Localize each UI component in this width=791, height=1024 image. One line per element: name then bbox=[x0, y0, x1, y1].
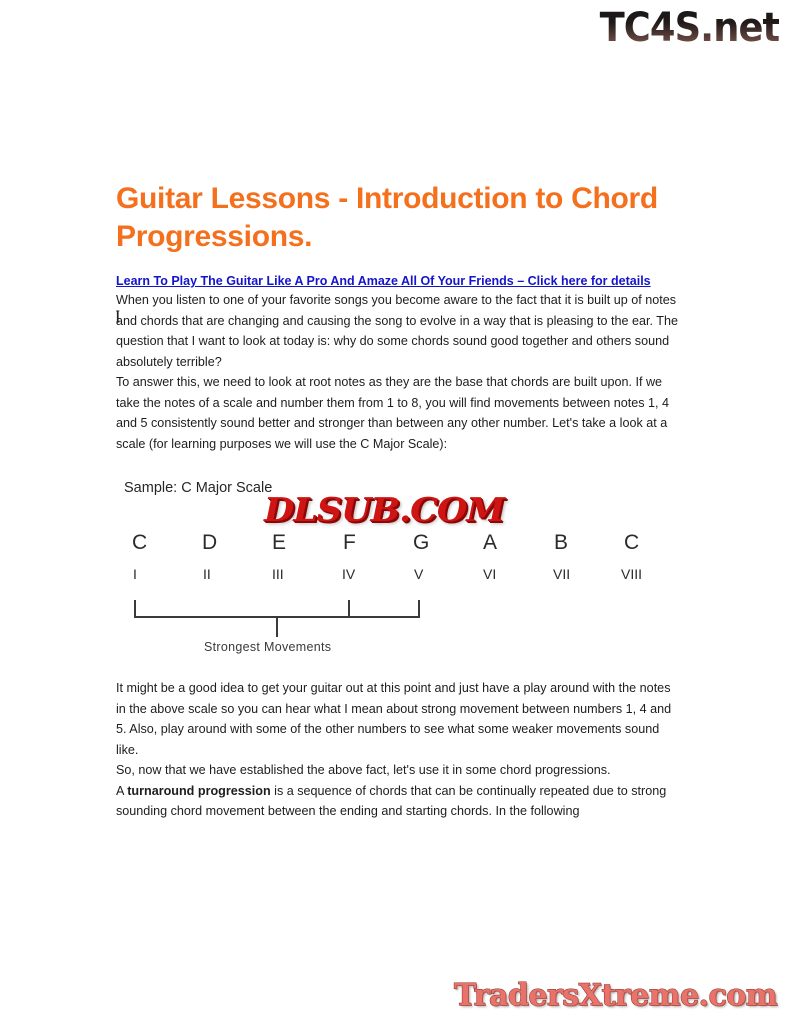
scale-numeral: I bbox=[133, 566, 137, 582]
scale-note: C bbox=[624, 531, 639, 555]
article-content: Guitar Lessons - Introduction to Chord P… bbox=[116, 180, 678, 822]
promo-close-bracket: ] bbox=[116, 308, 678, 378]
figure-caption: Sample: C Major Scale bbox=[124, 480, 272, 496]
scale-note: A bbox=[483, 531, 497, 555]
paragraph-practice: It might be a good idea to get your guit… bbox=[116, 678, 678, 760]
strongest-movements-bracket: Strongest Movements bbox=[116, 594, 678, 664]
bracket-pointer-down bbox=[276, 617, 278, 637]
document-page: TC4S.net Guitar Lessons - Introduction t… bbox=[0, 0, 791, 1024]
scale-note: E bbox=[272, 531, 286, 555]
bracket-tick-i bbox=[134, 600, 136, 618]
site-logo: TC4S.net bbox=[599, 4, 779, 52]
paragraph-turnaround: A turnaround progression is a sequence o… bbox=[116, 781, 678, 822]
bracket-label: Strongest Movements bbox=[204, 640, 331, 654]
scale-note: G bbox=[413, 531, 429, 555]
scale-note: B bbox=[554, 531, 568, 555]
scale-numeral: II bbox=[203, 566, 211, 582]
turnaround-term: turnaround progression bbox=[127, 784, 270, 798]
scale-numeral: VII bbox=[553, 566, 570, 582]
scale-note: F bbox=[343, 531, 356, 555]
turnaround-lead: A bbox=[116, 784, 127, 798]
bracket-tick-iv bbox=[348, 600, 350, 618]
scale-note: C bbox=[132, 531, 147, 555]
paragraph-established: So, now that we have established the abo… bbox=[116, 760, 678, 781]
page-title: Guitar Lessons - Introduction to Chord P… bbox=[116, 180, 678, 256]
scale-numeral-row: I II III IV V VI VII VIII bbox=[116, 566, 678, 592]
scale-numeral: III bbox=[272, 566, 284, 582]
paragraph-root-notes: To answer this, we need to look at root … bbox=[116, 372, 678, 454]
tradersxtreme-logo: TradersXtreme.com bbox=[454, 976, 777, 1016]
promo-link[interactable]: Learn To Play The Guitar Like A Pro And … bbox=[116, 274, 651, 288]
scale-numeral: IV bbox=[342, 566, 355, 582]
scale-note-row: C D E F G A B C bbox=[116, 531, 678, 557]
scale-numeral: VIII bbox=[621, 566, 642, 582]
scale-note: D bbox=[202, 531, 217, 555]
bracket-tick-v bbox=[418, 600, 420, 618]
c-major-scale-figure: Sample: C Major Scale C D E F G A B C I … bbox=[116, 466, 678, 678]
scale-numeral: VI bbox=[483, 566, 496, 582]
promo-link-line: [ Learn To Play The Guitar Like A Pro An… bbox=[116, 273, 678, 290]
scale-numeral: V bbox=[414, 566, 423, 582]
